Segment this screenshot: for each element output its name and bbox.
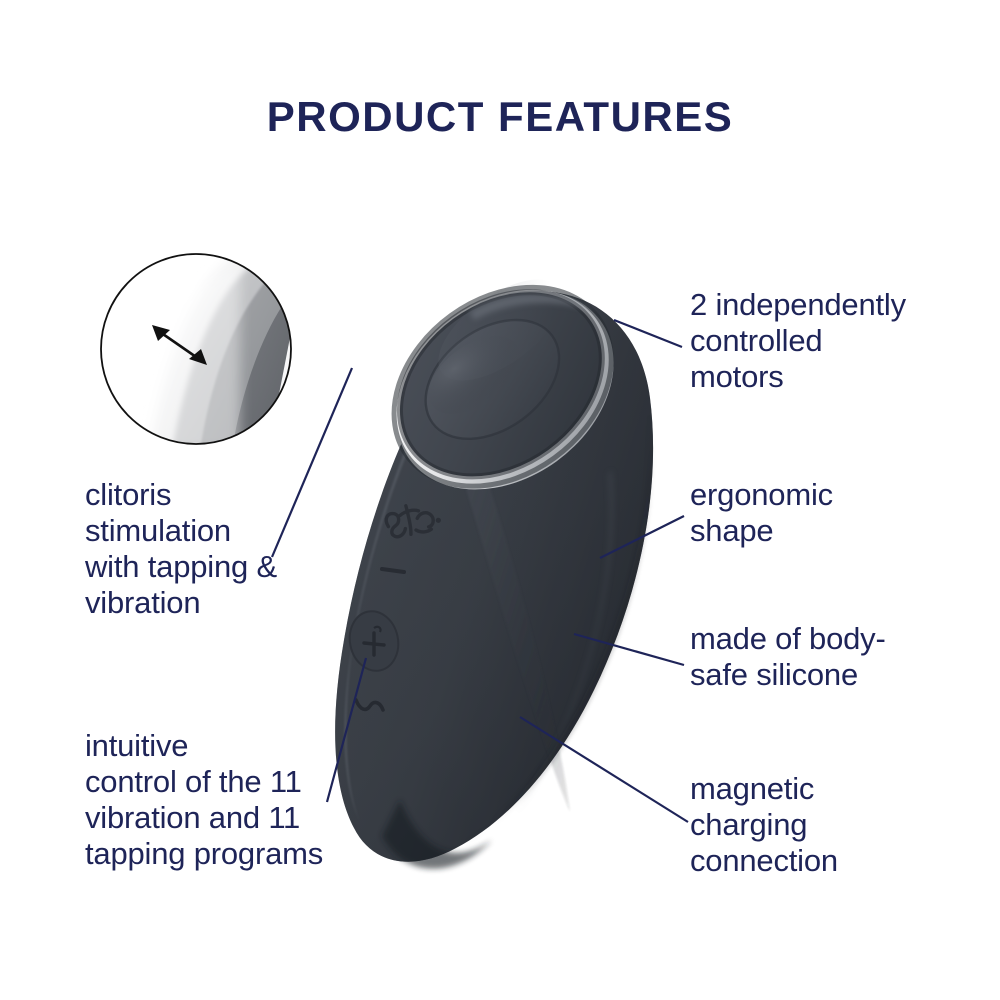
feature-label-body-safe-silicone: made of body- safe silicone xyxy=(690,621,970,693)
product-body-group xyxy=(335,246,653,869)
feature-label-clitoris-stimulation: clitoris stimulation with tapping & vibr… xyxy=(85,477,350,621)
feature-label-independently-controlled-motors: 2 independently controlled motors xyxy=(690,287,960,395)
infographic-canvas: PRODUCT FEATURES clitoris stimulation wi… xyxy=(0,0,1000,1000)
detail-inset-group xyxy=(98,243,362,451)
feature-label-ergonomic-shape: ergonomic shape xyxy=(690,477,960,549)
feature-label-intuitive-control: intuitive control of the 11 vibration an… xyxy=(85,728,370,872)
page-title: PRODUCT FEATURES xyxy=(0,93,1000,141)
feature-label-magnetic-charging-connection: magnetic charging connection xyxy=(690,771,960,879)
